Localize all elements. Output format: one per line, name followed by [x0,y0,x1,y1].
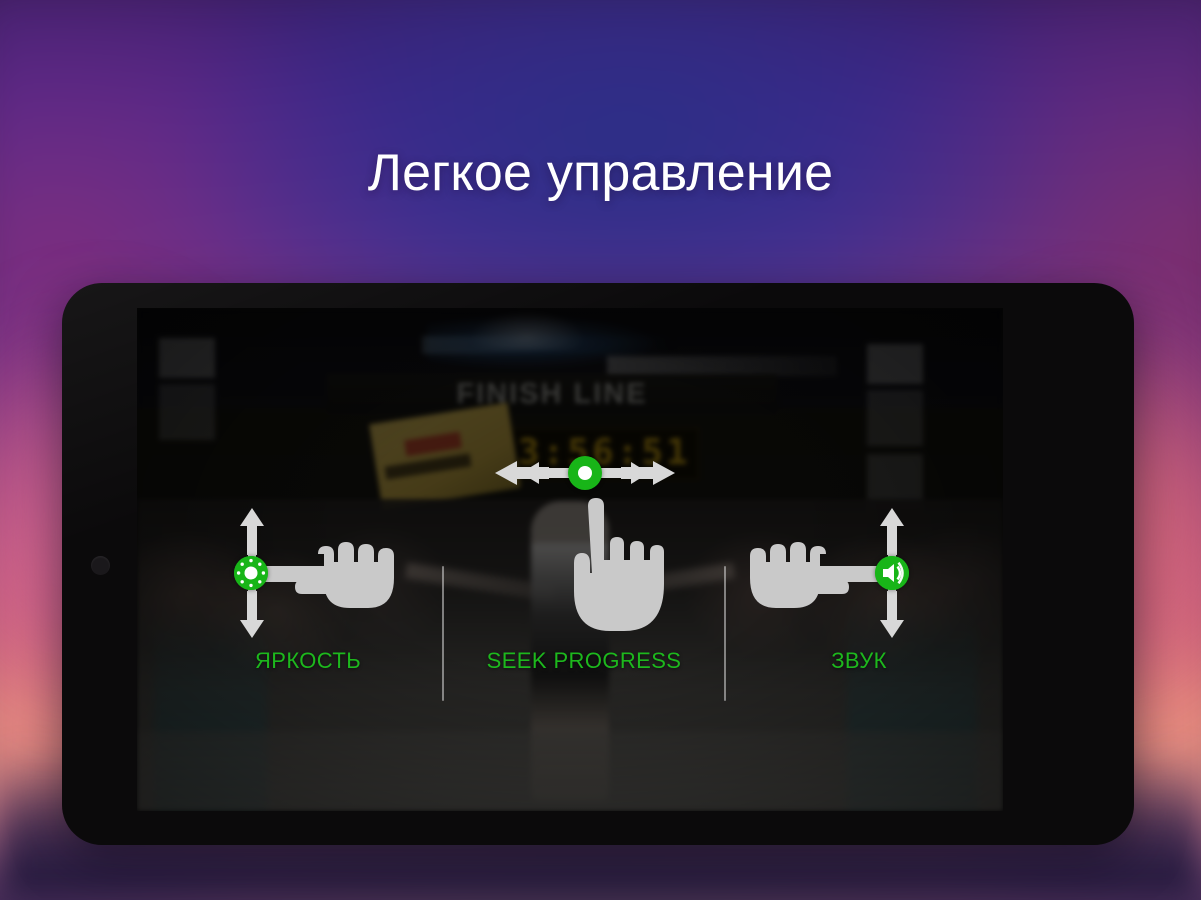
page-title: Легкое управление [0,143,1201,203]
pointing-hand-icon [552,498,662,638]
volume-label: ЗВУК [831,648,887,674]
seek-arrow-bar-group[interactable] [495,456,675,490]
phone-device: FINISH LINE 03:56:51 [62,283,1134,845]
zone-divider-right [724,566,726,701]
brightness-label: ЯРКОСТЬ [255,648,361,674]
seek-knob[interactable] [568,456,602,490]
volume-gesture-group[interactable] [732,508,922,638]
gesture-overlay: ЯРКОСТЬ [137,308,1003,811]
video-player-screen[interactable]: FINISH LINE 03:56:51 [137,308,1003,811]
front-camera-icon [91,556,110,575]
brightness-icon [234,556,268,590]
volume-icon [875,556,909,590]
screenshot-root: Легкое управление FINISH LINE [0,0,1201,900]
zone-divider-left [442,566,444,701]
seek-label: SEEK PROGRESS [487,648,682,674]
brightness-gesture-group[interactable] [222,508,412,638]
seek-gesture-hand-group[interactable] [552,498,662,638]
